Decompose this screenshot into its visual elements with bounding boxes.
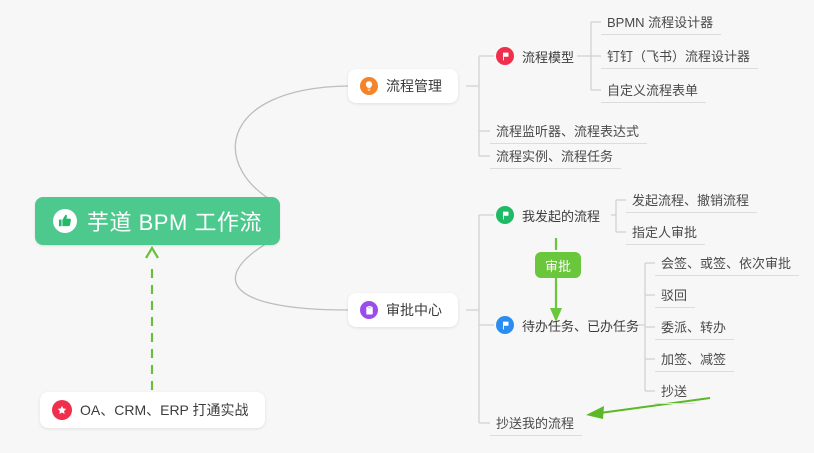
leaf-label-process-instance-task: 流程实例、流程任务: [496, 146, 613, 165]
thumbs-up-icon: [53, 209, 77, 233]
annotation-label-integration-note: OA、CRM、ERP 打通实战: [80, 400, 249, 420]
branch-label-approval-center: 审批中心: [386, 300, 442, 320]
leaf-label-countersign-orsign-sequential: 会签、或签、依次审批: [661, 253, 791, 272]
branch-node-approval-center[interactable]: 审批中心: [348, 293, 458, 327]
leaf-label-start-cancel-process: 发起流程、撤销流程: [632, 190, 749, 209]
star-icon: [52, 400, 72, 420]
node-label-process-model: 流程模型: [522, 47, 574, 66]
link-root-approval-center: [235, 236, 348, 310]
leaf-start-cancel-process[interactable]: 发起流程、撤销流程: [626, 187, 757, 213]
leaf-custom-process-form[interactable]: 自定义流程表单: [601, 77, 706, 103]
leaf-add-remove-sign[interactable]: 加签、减签: [655, 346, 734, 372]
leaf-dingtalk-feishu-designer[interactable]: 钉钉（飞书）流程设计器: [601, 43, 758, 69]
flag-icon: [496, 206, 514, 224]
leaf-label-dingtalk-feishu-designer: 钉钉（飞书）流程设计器: [607, 46, 750, 65]
root-label: 芋道 BPM 工作流: [87, 205, 262, 237]
leaf-cc[interactable]: 抄送: [655, 378, 695, 404]
annotation-integration-note[interactable]: OA、CRM、ERP 打通实战: [40, 392, 265, 428]
root-node[interactable]: 芋道 BPM 工作流: [35, 197, 280, 245]
leaf-delegate-transfer[interactable]: 委派、转办: [655, 314, 734, 340]
node-label-todo-done-tasks: 待办任务、已办任务: [522, 316, 639, 335]
leaf-label-add-remove-sign: 加签、减签: [661, 349, 726, 368]
branch-label-process-management: 流程管理: [386, 76, 442, 96]
leaf-cc-to-me-process[interactable]: 抄送我的流程: [490, 410, 582, 436]
leaf-assignee-approval[interactable]: 指定人审批: [626, 219, 705, 245]
leaf-process-instance-task[interactable]: 流程实例、流程任务: [490, 143, 621, 169]
annotation-label-approval-badge: 审批: [545, 256, 571, 275]
leaf-label-bpmn-designer: BPMN 流程设计器: [607, 12, 713, 31]
flag-icon: [496, 47, 514, 65]
node-todo-done-tasks[interactable]: 待办任务、已办任务: [494, 312, 645, 338]
clipboard-icon: [360, 301, 378, 319]
leaf-label-process-listener-expression: 流程监听器、流程表达式: [496, 121, 639, 140]
leaf-label-cc: 抄送: [661, 381, 687, 400]
leaf-label-custom-process-form: 自定义流程表单: [607, 80, 698, 99]
leaf-label-assignee-approval: 指定人审批: [632, 222, 697, 241]
leaf-reject[interactable]: 驳回: [655, 282, 695, 308]
arrow-integration-note-head: [146, 248, 158, 258]
leaf-process-listener-expression[interactable]: 流程监听器、流程表达式: [490, 118, 647, 144]
lightbulb-icon: [360, 77, 378, 95]
leaf-label-cc-to-me-process: 抄送我的流程: [496, 413, 574, 432]
branch-node-process-management[interactable]: 流程管理: [348, 69, 458, 103]
leaf-label-reject: 驳回: [661, 285, 687, 304]
node-label-my-initiated-process: 我发起的流程: [522, 206, 600, 225]
leaf-label-delegate-transfer: 委派、转办: [661, 317, 726, 336]
leaf-countersign-orsign-sequential[interactable]: 会签、或签、依次审批: [655, 250, 799, 276]
node-my-initiated-process[interactable]: 我发起的流程: [494, 202, 606, 228]
annotation-approval-badge[interactable]: 审批: [535, 252, 581, 278]
link-root-process-management: [235, 86, 348, 205]
mindmap-canvas: 芋道 BPM 工作流 流程管理 流程模型 BPMN 流程设计器 钉钉（飞书）流程…: [0, 0, 814, 453]
node-process-model[interactable]: 流程模型: [494, 43, 580, 69]
flag-icon: [496, 316, 514, 334]
leaf-bpmn-designer[interactable]: BPMN 流程设计器: [601, 9, 721, 35]
arrow-cc-head: [586, 406, 604, 419]
